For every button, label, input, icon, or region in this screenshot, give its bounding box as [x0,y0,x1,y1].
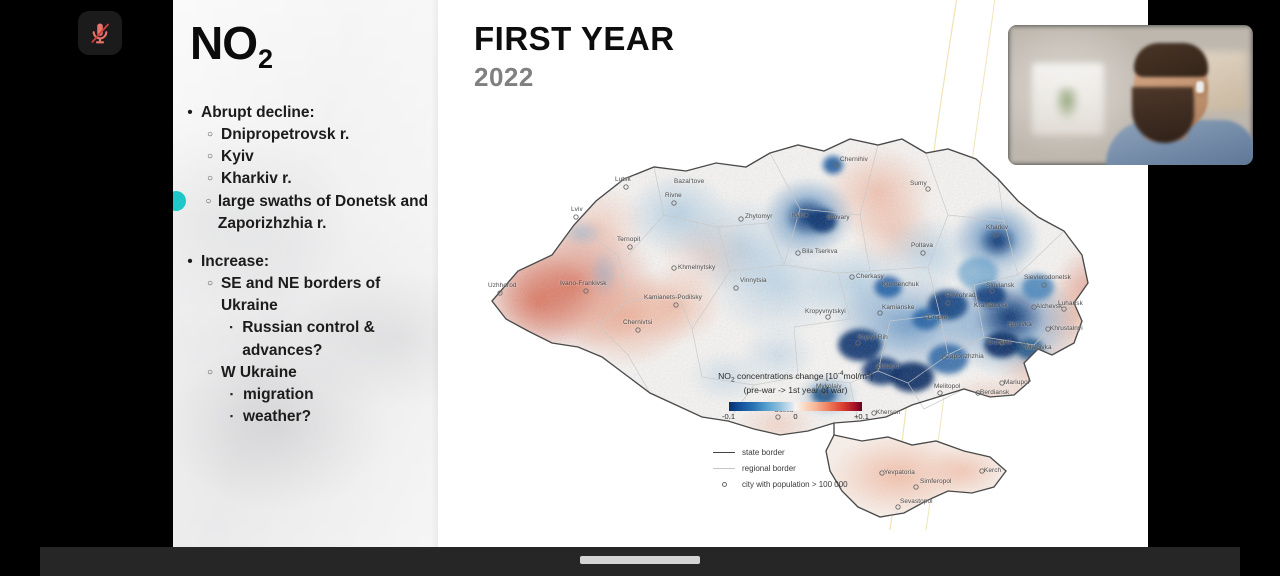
legend-label: state border [742,448,785,457]
city-label: Lviv [571,206,583,213]
colorbar-legend: NO2 concentrations change [10-4mol/m2] (… [688,370,903,423]
city-label: Rivne [665,192,682,199]
bullet-marker: ▪ [227,406,236,428]
legend-label: city with population > 100 000 [742,480,848,489]
bullet-text: W Ukraine [221,362,297,384]
bullet-marker: • [185,251,195,273]
bullet-text: SE and NE borders of Ukraine [221,273,440,317]
city-label: Kropyvnytskyi [805,308,846,315]
city-label: Horlivka [1008,321,1032,328]
city-label: Lutsk [615,176,631,183]
bullet-marker: ▪ [227,317,235,361]
bullet-text: Russian control & advances? [242,317,440,361]
microphone-muted-icon [87,20,113,46]
earbud-icon [1196,81,1204,93]
colorbar-title-end: ] [871,371,873,381]
city-label: Kyiv [792,212,804,219]
city-label: Kramatorsk [974,302,1008,309]
colorbar-title: NO2 concentrations change [10-4mol/m2] (… [688,370,903,397]
list-item: • Abrupt decline: [185,102,440,124]
bullet-marker: ▪ [227,384,236,406]
list-item: • Increase: [185,251,440,273]
city-label: Donetsk [988,339,1012,346]
list-item: ○ large swaths of Donetsk and Zaporizhzh… [185,191,440,235]
city-label: Bazal'tove [674,178,704,185]
bullet-text: weather? [243,406,311,428]
bullet-text: Dnipropetrovsk r. [221,124,349,146]
city-label: Kamianske [882,304,915,311]
city-label: Kharkiv [986,224,1008,231]
city-label: Zaporizhzhia [946,353,984,360]
bullet-text: Kyiv [221,146,254,168]
slide-title-main: NO [190,17,257,69]
list-spacer [185,235,440,251]
city-label: Pavlohrad [946,292,976,299]
city-label: Melitopol [934,383,960,390]
colorbar-title-suffix: mol/m [844,371,867,381]
city-dot-icon [706,482,742,487]
list-item: ○ Kharkiv r. [185,168,440,190]
city-label: Ivano-Frankivsk [560,280,607,287]
city-label: Nikopol [878,363,900,370]
participant-video-tile[interactable] [1008,25,1253,165]
list-item: ▪ Russian control & advances? [185,317,440,361]
list-item: ○ Dnipropetrovsk r. [185,124,440,146]
state-border-icon [706,452,742,453]
city-label: Alchevsk [1036,303,1062,310]
legend-label: regional border [742,464,796,473]
city-label: Simferopol [920,478,952,485]
city-label: Ternopil [617,236,640,243]
participant-hair [1134,43,1208,77]
legend-item-state-border: state border [706,444,848,460]
list-item: ○ W Ukraine [185,362,440,384]
colorbar-subtitle: (pre-war -> 1st year of war) [688,385,903,397]
city-label: Dnipro [928,314,947,321]
city-label: Zhytomyr [745,213,772,220]
mic-muted-badge[interactable] [78,11,122,55]
bullet-marker: ○ [205,146,215,168]
bottom-toolbar[interactable] [40,547,1240,576]
city-label: Brovary [827,214,850,221]
city-label: Khrustalnyi [1050,325,1083,332]
city-label: Kremenchuk [882,281,919,288]
slide-title: NO2 [190,20,271,66]
bullet-marker: • [185,102,195,124]
city-label: Khmelnytsky [678,264,715,271]
city-label: Kryvyi Rih [858,334,888,341]
city-label: Bila Tserkva [802,248,838,255]
colorbar-title-mid: concentrations change [10 [735,371,838,381]
bullet-marker: ○ [205,168,215,190]
city-label: Chernivtsi [623,319,652,326]
colorbar-tick-max: +0.1 [854,412,869,421]
slide-bullet-list: • Abrupt decline: ○ Dnipropetrovsk r. ○ … [185,102,440,428]
slide-title-subscript: 2 [258,44,272,74]
map-legend: state border regional border city with p… [706,444,848,492]
legend-item-city: city with population > 100 000 [706,476,848,492]
bullet-text: migration [243,384,314,406]
city-label: Makiivka [1026,344,1052,351]
bullet-marker: ○ [205,362,215,384]
colorbar-tick-min: -0.1 [722,412,735,421]
colorbar-tick-mid: 0 [793,412,797,421]
page-title: FIRST YEAR [474,20,675,58]
city-label: Kerch [984,467,1001,474]
legend-item-regional-border: regional border [706,460,848,476]
toolbar-drag-handle[interactable] [580,556,700,564]
list-item: ○ Kyiv [185,146,440,168]
city-label: Berdiansk [980,389,1009,396]
bullet-marker: ○ [205,191,212,235]
colorbar-gradient [729,402,862,411]
city-label: Mariupol [1004,379,1029,386]
list-item: ▪ weather? [185,406,440,428]
participant-avatar [1008,25,1253,165]
bullet-text: Increase: [201,251,269,273]
city-label: Sumy [910,180,927,187]
map-year-label: 2022 [474,62,534,93]
regional-border-icon [706,468,742,469]
screen-share-view: NO2 • Abrupt decline: ○ Dnipropetrovsk r… [0,0,1280,576]
bullet-marker: ○ [205,124,215,146]
colorbar-ticks: -0.1 0 +0.1 [720,412,871,423]
city-label: Sevastopol [900,498,933,505]
list-item: ○ SE and NE borders of Ukraine [185,273,440,317]
city-label: Poltava [911,242,933,249]
city-label: Sloviansk [986,282,1014,289]
city-label: Chernihiv [840,156,868,163]
city-label: Cherkasy [856,273,884,280]
presentation-slide: NO2 • Abrupt decline: ○ Dnipropetrovsk r… [173,0,1148,547]
city-label: Kamianets-Podilsky [644,294,702,301]
colorbar-title-prefix: NO [718,371,731,381]
bullet-text: large swaths of Donetsk and Zaporizhzhia… [218,191,440,235]
city-label: Uzhhorod [488,282,517,289]
city-label: Yevpatoria [884,469,915,476]
bullet-text: Kharkiv r. [221,168,292,190]
list-item: ▪ migration [185,384,440,406]
bullet-text: Abrupt decline: [201,102,315,124]
bullet-marker: ○ [205,273,215,317]
city-label: Sievierodonetsk [1024,274,1071,281]
city-label: Vinnytsia [740,277,767,284]
